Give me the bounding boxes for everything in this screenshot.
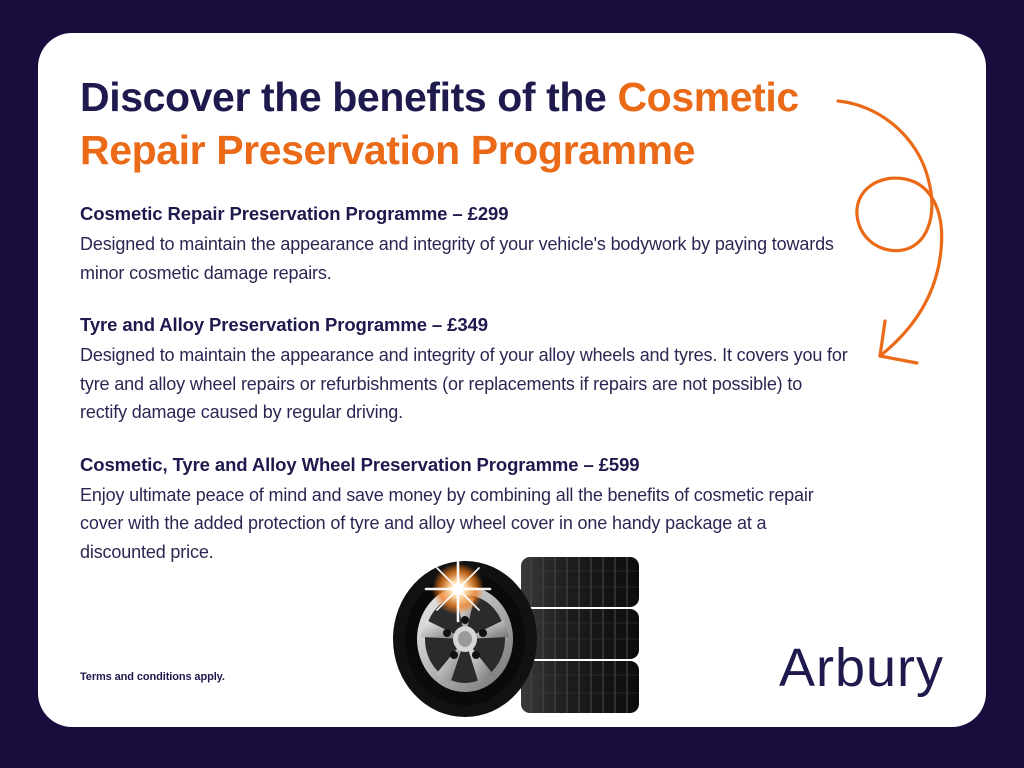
promo-card: Discover the benefits of the Cosmetic Re… [38, 33, 986, 727]
page-title: Discover the benefits of the Cosmetic Re… [80, 71, 840, 177]
programme-heading: Cosmetic, Tyre and Alloy Wheel Preservat… [80, 452, 852, 478]
tyre-stack-with-alloy-wheel-image [353, 549, 663, 727]
programme-heading: Tyre and Alloy Preservation Programme – … [80, 312, 852, 338]
curly-arrow-icon [833, 78, 968, 378]
programme-list: Cosmetic Repair Preservation Programme –… [80, 201, 852, 566]
brand-logo: Arbury [779, 641, 944, 695]
programme-description: Designed to maintain the appearance and … [80, 341, 852, 427]
stacked-tyres [521, 557, 639, 713]
headline-lead: Discover the benefits of the [80, 74, 617, 120]
terms-and-conditions: Terms and conditions apply. [80, 671, 225, 683]
programme-item: Tyre and Alloy Preservation Programme – … [80, 312, 852, 427]
programme-heading: Cosmetic Repair Preservation Programme –… [80, 201, 852, 227]
programme-description: Designed to maintain the appearance and … [80, 230, 852, 287]
programme-item: Cosmetic Repair Preservation Programme –… [80, 201, 852, 287]
